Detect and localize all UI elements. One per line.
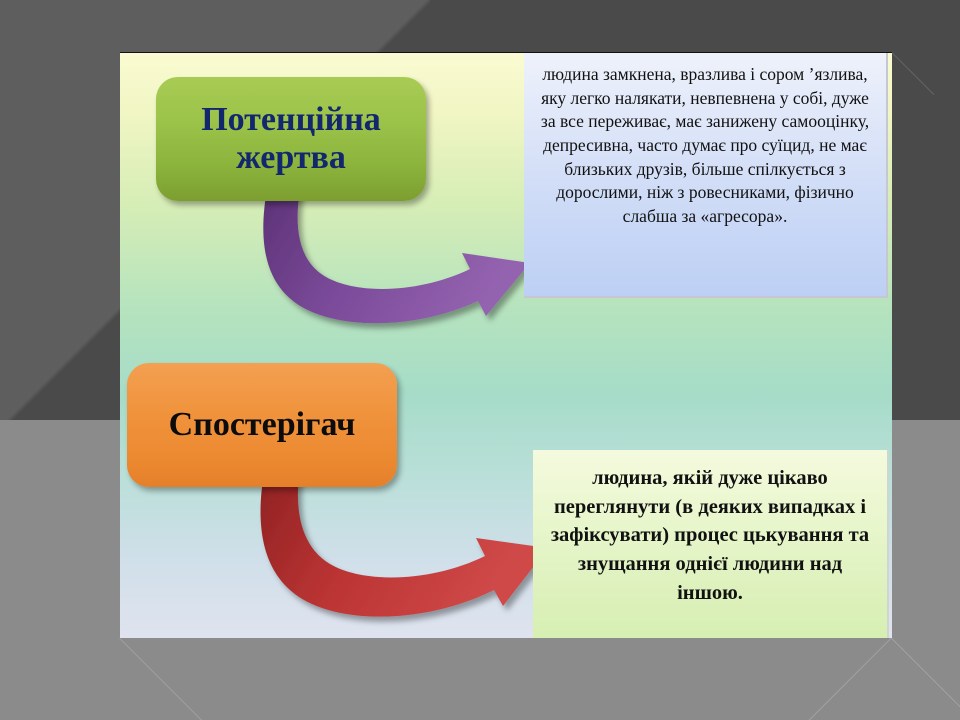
description-potential-victim: людина замкнена, вразлива і сором ’язлив… <box>524 53 888 298</box>
slide-canvas: Потенційна жертва Спостерігач людина зам… <box>120 52 892 638</box>
description-observer: людина, якій дуже цікаво переглянути (в … <box>533 450 889 638</box>
description-potential-victim-text: людина замкнена, вразлива і сором ’язлив… <box>541 64 869 226</box>
node-potential-victim-label: Потенційна жертва <box>168 101 414 177</box>
description-observer-text: людина, якій дуже цікаво переглянути (в … <box>551 467 869 604</box>
node-observer-label: Спостерігач <box>169 406 356 444</box>
node-potential-victim[interactable]: Потенційна жертва <box>156 77 426 201</box>
desktop-background: Потенційна жертва Спостерігач людина зам… <box>0 0 960 720</box>
node-observer[interactable]: Спостерігач <box>127 363 397 487</box>
